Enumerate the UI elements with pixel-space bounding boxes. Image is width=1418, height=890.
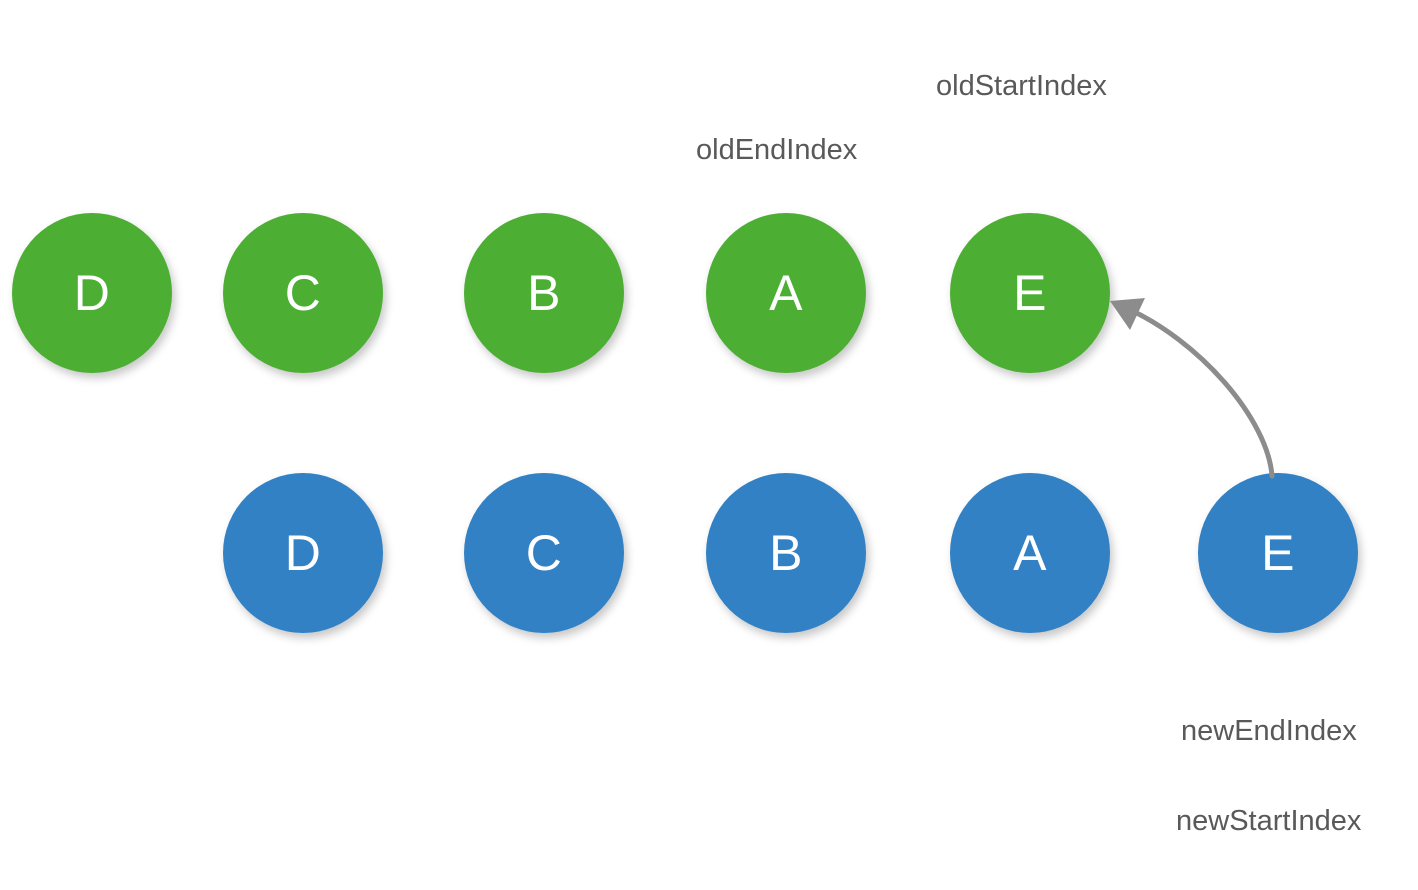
- label-old-end-index: oldEndIndex: [696, 136, 857, 165]
- new-node-D[interactable]: D: [223, 473, 383, 633]
- new-node-E-label: E: [1261, 528, 1295, 578]
- old-node-E[interactable]: E: [950, 213, 1110, 373]
- old-node-A-label: A: [769, 268, 803, 318]
- new-node-B[interactable]: B: [706, 473, 866, 633]
- label-new-end-index: newEndIndex: [1181, 717, 1357, 746]
- old-node-E-label: E: [1013, 268, 1047, 318]
- new-node-A-label: A: [1013, 528, 1047, 578]
- diagram-canvas: D C B A E D C B A E: [0, 0, 1418, 890]
- new-node-C-label: C: [526, 528, 563, 578]
- old-node-A[interactable]: A: [706, 213, 866, 373]
- new-node-A[interactable]: A: [950, 473, 1110, 633]
- old-node-C[interactable]: C: [223, 213, 383, 373]
- move-arrow-head: [1110, 298, 1145, 330]
- new-node-C[interactable]: C: [464, 473, 624, 633]
- new-node-E[interactable]: E: [1198, 473, 1358, 633]
- old-node-D[interactable]: D: [12, 213, 172, 373]
- new-node-D-label: D: [285, 528, 322, 578]
- old-node-B[interactable]: B: [464, 213, 624, 373]
- old-node-B-label: B: [527, 268, 561, 318]
- old-node-D-label: D: [74, 268, 111, 318]
- move-arrow-line: [1124, 307, 1272, 476]
- old-node-C-label: C: [285, 268, 322, 318]
- label-old-start-index: oldStartIndex: [936, 72, 1107, 101]
- label-new-start-index: newStartIndex: [1176, 807, 1361, 836]
- new-node-B-label: B: [769, 528, 803, 578]
